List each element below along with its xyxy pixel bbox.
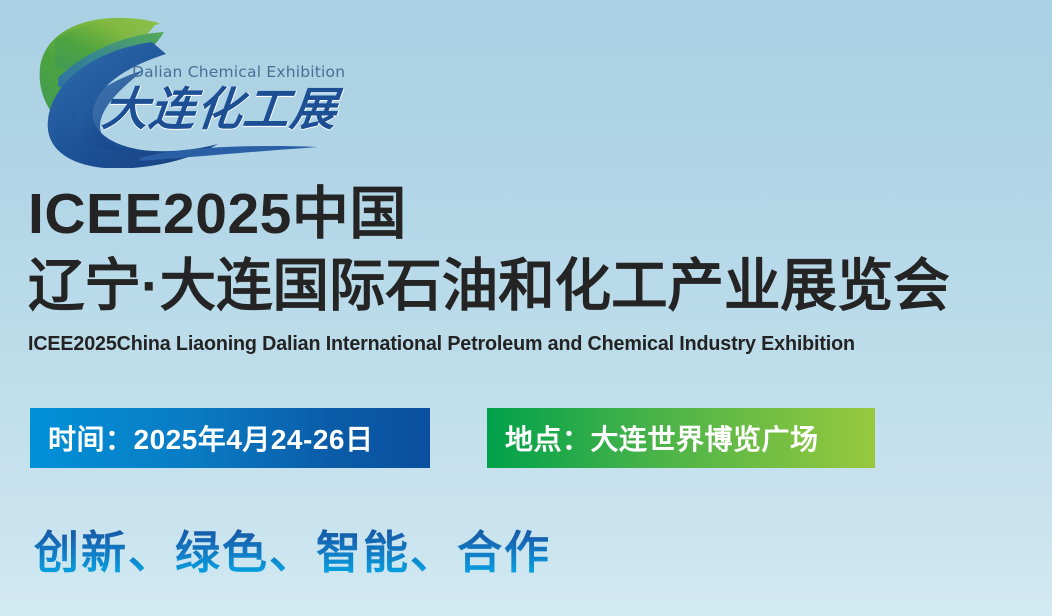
page-title-line1: ICEE2025中国 [28, 186, 407, 243]
venue-badge: 地点：大连世界博览广场 [487, 408, 875, 468]
slogan-text: 创新、绿色、智能、合作 [34, 525, 551, 581]
logo-english-name: Dalian Chemical Exhibition [132, 63, 345, 81]
exhibition-poster: Dalian Chemical Exhibition 大连化工展 ICEE202… [0, 0, 1052, 616]
logo-block: Dalian Chemical Exhibition 大连化工展 [22, 8, 332, 168]
logo-underline-swoosh [140, 146, 318, 161]
date-badge: 时间：2025年4月24-26日 [30, 408, 430, 468]
page-title-line2: 辽宁·大连国际石油和化工产业展览会 [28, 258, 950, 315]
logo-chinese-name: 大连化工展 [100, 86, 340, 132]
page-subtitle-english: ICEE2025China Liaoning Dalian Internatio… [28, 333, 855, 356]
